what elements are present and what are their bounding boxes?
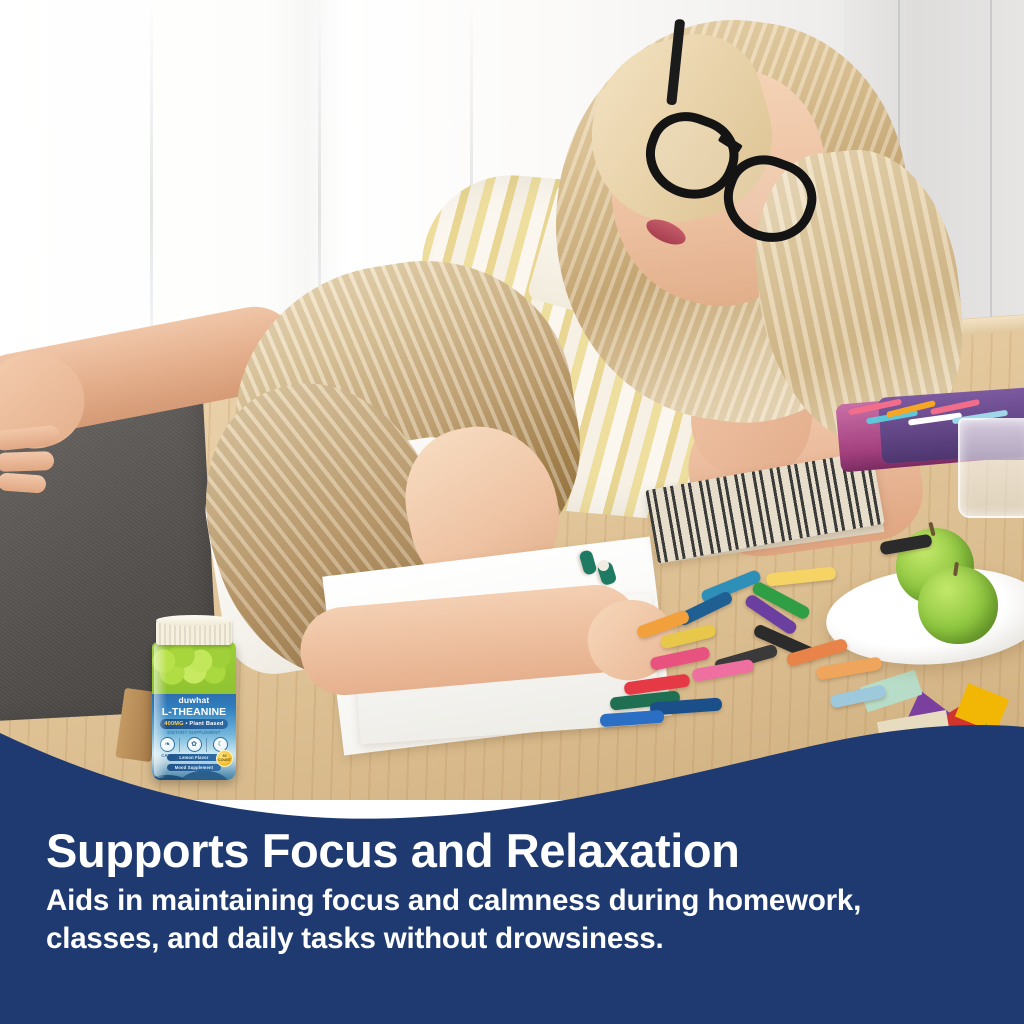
brand-text: duwhat xyxy=(179,695,210,705)
dose-amount: 400MG xyxy=(164,721,183,727)
flavor-bar: Lemon Flavor xyxy=(167,754,221,761)
badge-divider xyxy=(206,738,207,752)
lifestyle-photo: duwhat L-THEANINE 400MG • Plant Based DI… xyxy=(0,0,1024,800)
bottle-cap-top xyxy=(156,615,232,626)
mother-finger xyxy=(0,451,54,472)
mother-finger xyxy=(0,472,47,493)
plant-based-claim: Plant Based xyxy=(189,721,223,727)
lotus-icon: ✿ xyxy=(187,737,202,752)
subcopy: Aids in maintaining focus and calmness d… xyxy=(46,882,978,958)
dose-pill: 400MG • Plant Based xyxy=(160,719,228,729)
product-bottle[interactable]: duwhat L-THEANINE 400MG • Plant Based DI… xyxy=(150,618,238,780)
bottle-gloss xyxy=(154,642,167,778)
subcopy-line-1: Aids in maintaining focus and calmness d… xyxy=(46,882,978,920)
drinking-glass xyxy=(958,418,1024,518)
apple xyxy=(918,566,998,644)
dose-separator: • xyxy=(185,721,187,727)
headline: Supports Focus and Relaxation xyxy=(46,826,978,876)
supplement-bar: Mood Supplement xyxy=(167,764,221,771)
count-seal: 60 COUNT xyxy=(216,750,233,767)
banner-text-block: Supports Focus and Relaxation Aids in ma… xyxy=(0,826,1024,958)
badge-divider xyxy=(179,738,180,752)
pencil-tip xyxy=(598,560,609,571)
subcopy-line-2: classes, and daily tasks without drowsin… xyxy=(46,920,978,958)
product-marketing-image: duwhat L-THEANINE 400MG • Plant Based DI… xyxy=(0,0,1024,1024)
